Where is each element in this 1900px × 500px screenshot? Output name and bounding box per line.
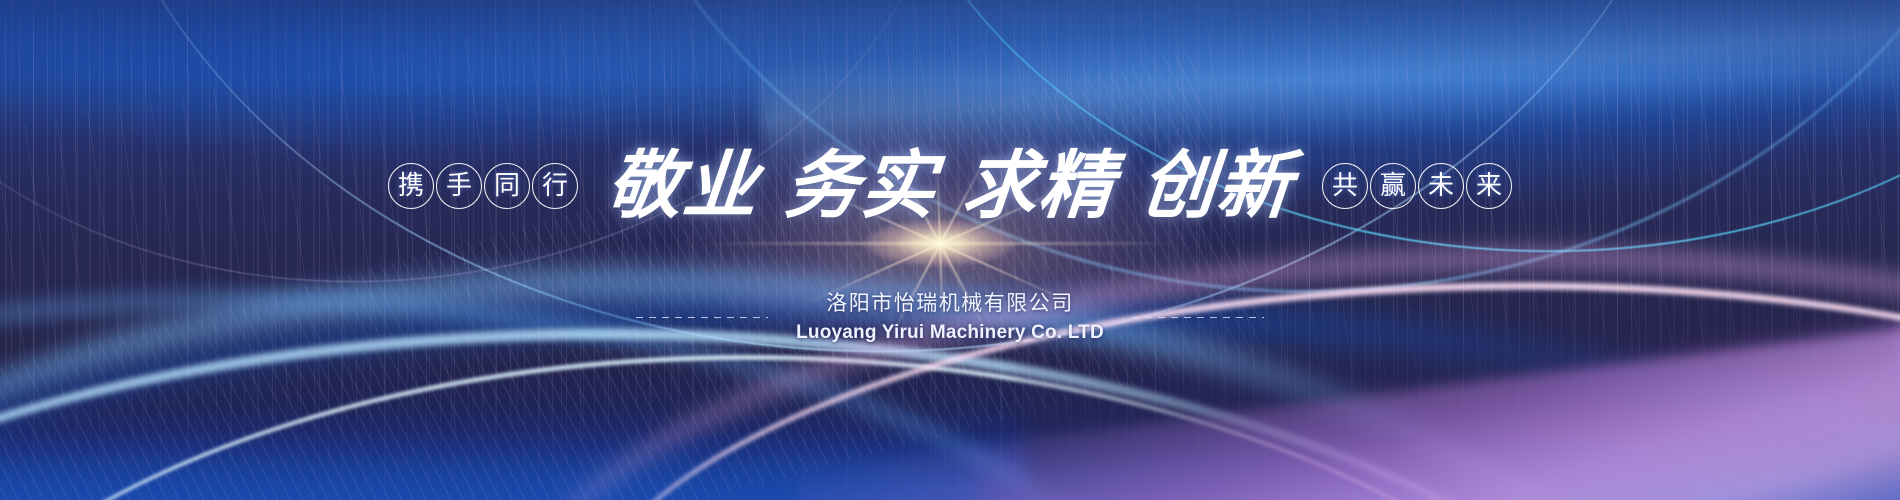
company-name-block: 洛阳市怡瑞机械有限公司 Luoyang Yirui Machinery Co. …: [0, 290, 1900, 345]
headline-word-jingye: 敬业: [604, 149, 762, 223]
circled-char-xie: 携: [388, 163, 434, 209]
dashed-rule-left: [636, 317, 768, 318]
company-name-english: Luoyang Yirui Machinery Co. LTD: [796, 321, 1104, 345]
circled-char-tong: 同: [484, 163, 530, 209]
circled-char-ying: 赢: [1370, 163, 1416, 209]
company-names: 洛阳市怡瑞机械有限公司 Luoyang Yirui Machinery Co. …: [796, 290, 1104, 345]
headline-word-chuangxin: 创新: [1138, 149, 1296, 223]
circled-char-lai: 来: [1466, 163, 1512, 209]
company-slogan-banner: 携 手 同 行 敬业 务实 求精 创新 共 赢 未 来 洛阳市怡瑞机械有限公司: [0, 0, 1900, 500]
company-name-chinese: 洛阳市怡瑞机械有限公司: [796, 290, 1104, 317]
left-circled-char-group: 携 手 同 行: [388, 163, 578, 209]
headline-word-qiujing: 求精: [960, 149, 1118, 223]
circled-char-gong: 共: [1322, 163, 1368, 209]
slogan-row: 携 手 同 行 敬业 务实 求精 创新 共 赢 未 来: [0, 138, 1900, 234]
dashed-rule-right: [1132, 317, 1264, 318]
circled-char-wei: 未: [1418, 163, 1464, 209]
headline-word-wushi: 务实: [782, 149, 940, 223]
circled-char-xing: 行: [532, 163, 578, 209]
headline-slogan: 敬业 务实 求精 创新: [578, 149, 1322, 223]
circled-char-shou: 手: [436, 163, 482, 209]
right-circled-char-group: 共 赢 未 来: [1322, 163, 1512, 209]
banner-content: 携 手 同 行 敬业 务实 求精 创新 共 赢 未 来 洛阳市怡瑞机械有限公司: [0, 0, 1900, 500]
